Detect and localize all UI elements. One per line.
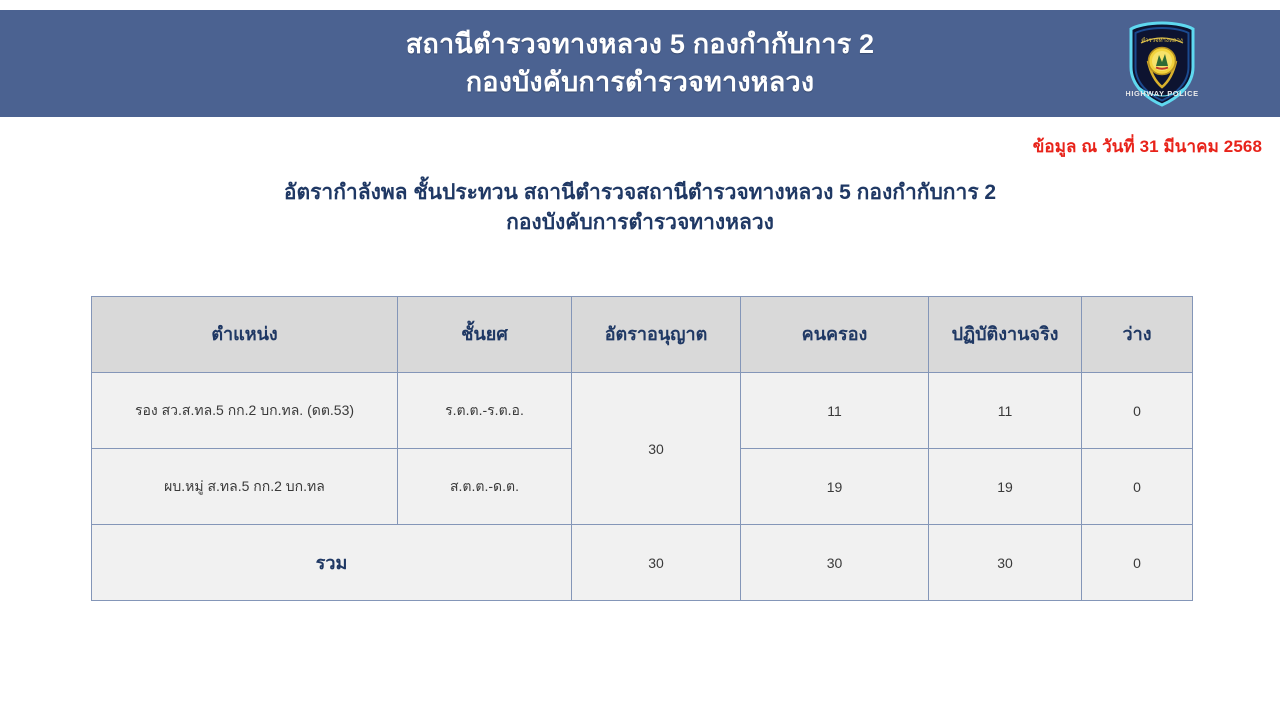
cell-authorized-merged: 30 — [572, 373, 741, 525]
cell-held: 11 — [741, 373, 929, 449]
banner-title: สถานีตำรวจทางหลวง 5 กองกำกับการ 2 กองบัง… — [406, 26, 875, 101]
cell-total-held: 30 — [741, 525, 929, 601]
personnel-table: ตำแหน่ง ชั้นยศ อัตราอนุญาต คนครอง ปฏิบัต… — [91, 296, 1193, 601]
column-header-rank: ชั้นยศ — [398, 297, 572, 373]
cell-held: 19 — [741, 449, 929, 525]
cell-actual: 11 — [929, 373, 1082, 449]
page-banner: สถานีตำรวจทางหลวง 5 กองกำกับการ 2 กองบัง… — [0, 10, 1280, 117]
column-header-held: คนครอง — [741, 297, 929, 373]
cell-vacant: 0 — [1082, 373, 1193, 449]
cell-rank: ร.ต.ต.-ร.ต.อ. — [398, 373, 572, 449]
cell-rank: ส.ต.ต.-ด.ต. — [398, 449, 572, 525]
cell-total-label: รวม — [92, 525, 572, 601]
cell-total-vacant: 0 — [1082, 525, 1193, 601]
cell-total-authorized: 30 — [572, 525, 741, 601]
cell-vacant: 0 — [1082, 449, 1193, 525]
page-title: อัตรากำลังพล ชั้นประทวน สถานีตำรวจสถานีต… — [0, 178, 1280, 239]
svg-text:HIGHWAY POLICE: HIGHWAY POLICE — [1126, 89, 1198, 98]
column-header-position: ตำแหน่ง — [92, 297, 398, 373]
column-header-authorized: อัตราอนุญาต — [572, 297, 741, 373]
column-header-vacant: ว่าง — [1082, 297, 1193, 373]
data-as-of-date: ข้อมูล ณ วันที่ 31 มีนาคม 2568 — [1033, 133, 1262, 160]
cell-position: รอง สว.ส.ทล.5 กก.2 บก.ทล. (ดต.53) — [92, 373, 398, 449]
personnel-table-container: ตำแหน่ง ชั้นยศ อัตราอนุญาต คนครอง ปฏิบัต… — [91, 296, 1192, 601]
cell-total-actual: 30 — [929, 525, 1082, 601]
table-header-row: ตำแหน่ง ชั้นยศ อัตราอนุญาต คนครอง ปฏิบัต… — [92, 297, 1193, 373]
highway-police-badge-icon: ตำรวจทางหลวง HIGHWAY POLICE — [1126, 21, 1198, 107]
table-row: รอง สว.ส.ทล.5 กก.2 บก.ทล. (ดต.53) ร.ต.ต.… — [92, 373, 1193, 449]
svg-text:ตำรวจทางหลวง: ตำรวจทางหลวง — [1141, 37, 1183, 44]
column-header-actual: ปฏิบัติงานจริง — [929, 297, 1082, 373]
cell-position: ผบ.หมู่ ส.ทล.5 กก.2 บก.ทล — [92, 449, 398, 525]
cell-actual: 19 — [929, 449, 1082, 525]
table-total-row: รวม 30 30 30 0 — [92, 525, 1193, 601]
